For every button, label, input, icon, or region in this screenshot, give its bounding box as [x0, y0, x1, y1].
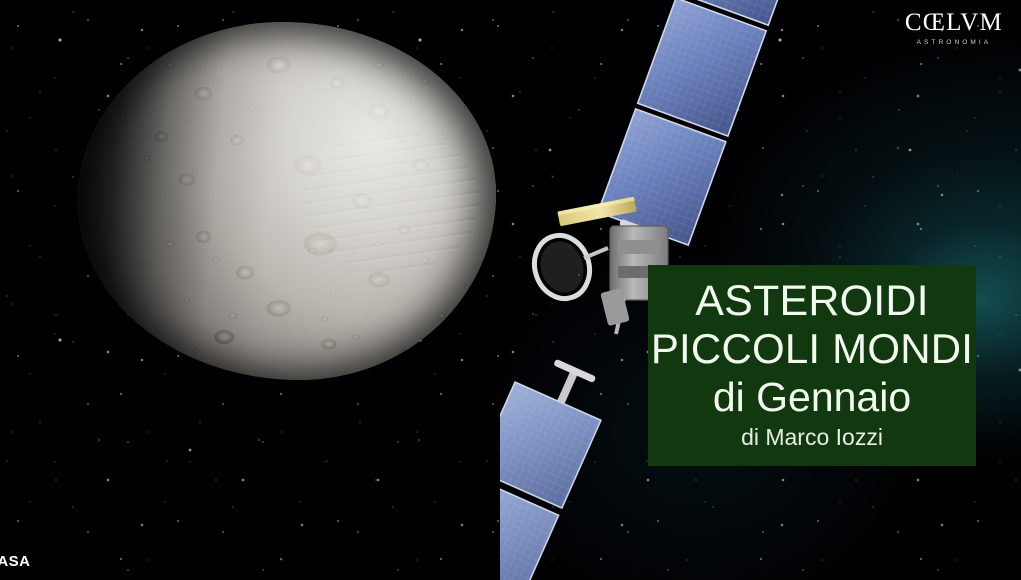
title-card: ASTEROIDI PICCOLI MONDI di Gennaio di Ma…	[648, 265, 976, 466]
solar-panel-segment	[500, 382, 601, 508]
high-gain-antenna	[526, 228, 608, 306]
solar-panel-segment	[598, 109, 726, 245]
solar-array-lower	[500, 347, 616, 580]
title-line-2: PICCOLI MONDI	[651, 328, 973, 371]
asteroid-body	[78, 22, 496, 380]
title-slide: ASTEROIDI PICCOLI MONDI di Gennaio di Ma…	[0, 0, 1021, 580]
author-byline: di Marco Iozzi	[741, 426, 883, 449]
title-line-3: di Gennaio	[713, 377, 911, 419]
title-line-1: ASTEROIDI	[695, 280, 929, 324]
solar-panel-segment	[638, 0, 767, 136]
image-credit: NASA	[0, 553, 31, 570]
asteroid	[78, 22, 496, 380]
asteroid-terminator-shadow	[78, 22, 496, 380]
